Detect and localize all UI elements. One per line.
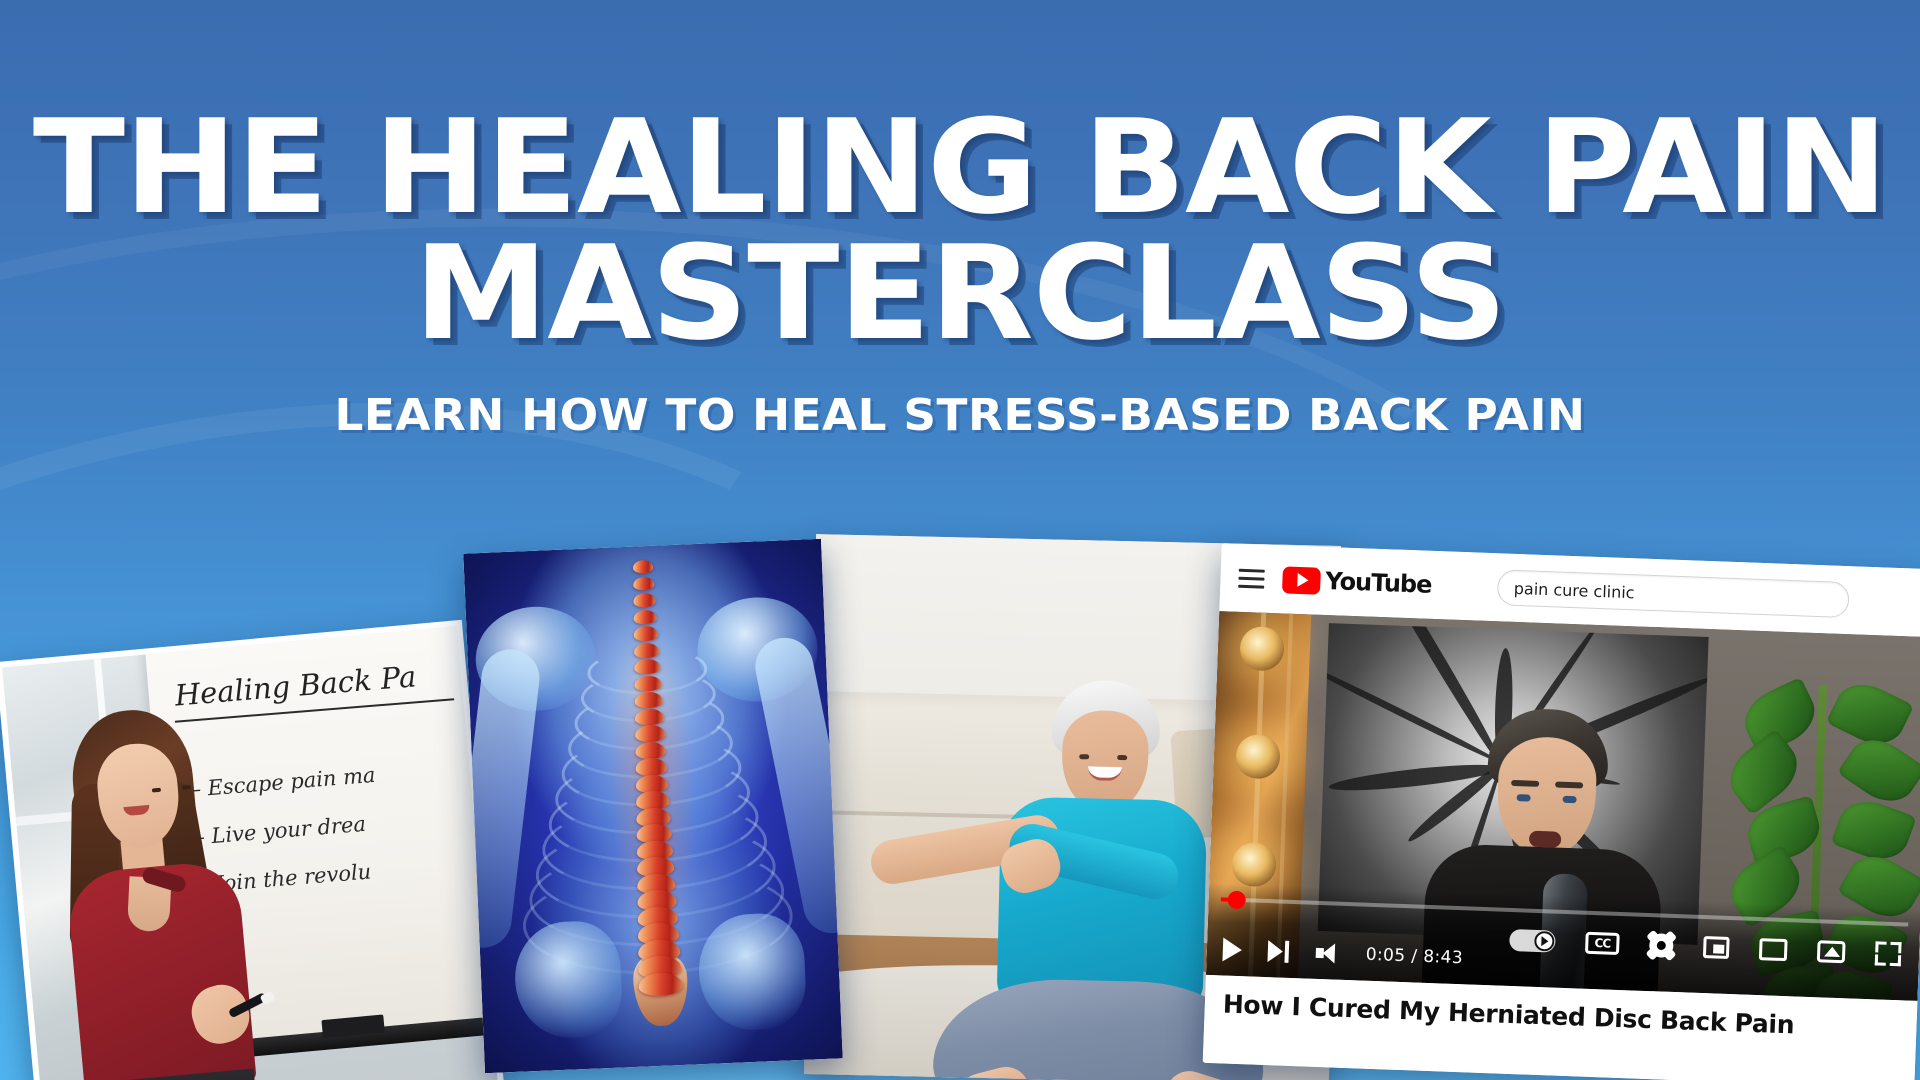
speaker-brow-left <box>1511 780 1539 787</box>
presenter-eye-left <box>152 788 161 793</box>
play-button[interactable] <box>1222 937 1242 962</box>
play-triangle <box>1297 573 1309 587</box>
corner <box>1875 941 1886 952</box>
search-input[interactable]: pain cure clinic <box>1496 569 1849 618</box>
hamburger-bar <box>1239 568 1265 572</box>
speaker-face <box>1496 735 1598 857</box>
photo-card-whiteboard: Healing Back Pa – Escape pain ma – Live … <box>0 620 504 1080</box>
youtube-logo[interactable]: YouTube <box>1282 565 1432 598</box>
autoplay-toggle[interactable] <box>1509 929 1556 953</box>
player-controls-right: CC <box>1509 928 1902 966</box>
next-video-button[interactable] <box>1267 940 1290 963</box>
theater-mode-icon[interactable] <box>1759 938 1788 961</box>
settings-gear-icon[interactable] <box>1649 933 1674 958</box>
time-display: 0:05 / 8:43 <box>1365 945 1463 969</box>
play-icon <box>1222 937 1242 962</box>
vertebra <box>634 659 660 675</box>
woman-eye-right <box>1117 755 1127 760</box>
hamburger-bar <box>1238 584 1264 588</box>
video-title: How I Cured My Herniated Disc Back Pain <box>1222 989 1899 1043</box>
vertebra <box>635 724 665 742</box>
light-bulb <box>1239 626 1285 672</box>
volume-icon <box>1315 943 1340 964</box>
vertebra <box>633 576 654 590</box>
corner <box>1890 955 1901 966</box>
whiteboard-photo: Healing Back Pa – Escape pain ma – Live … <box>2 626 498 1080</box>
photo-card-spine-anatomy <box>463 539 842 1074</box>
player-controls-left: 0:05 / 8:43 <box>1222 937 1463 970</box>
hamburger-bar <box>1238 576 1264 580</box>
plant-leaf <box>1837 728 1920 813</box>
corner <box>1875 954 1886 965</box>
gear-center <box>1657 941 1666 950</box>
page-title: THE HEALING BACK PAIN MASTERCLASS <box>0 0 1920 356</box>
vertebra <box>634 626 658 642</box>
captions-icon[interactable]: CC <box>1585 932 1620 955</box>
vertebra <box>635 741 666 760</box>
cast-icon[interactable] <box>1817 940 1846 963</box>
vertebra <box>634 692 662 709</box>
speaker-brow-right <box>1555 782 1583 789</box>
speaker-eye-right <box>1562 796 1576 804</box>
hamburger-menu-icon[interactable] <box>1238 568 1265 588</box>
vertebra <box>633 560 654 574</box>
title-line-2: MASTERCLASS <box>0 230 1920 356</box>
light-bulb <box>1231 842 1277 888</box>
woman-eye-left <box>1079 755 1089 760</box>
next-icon <box>1267 940 1290 963</box>
spine-illustration <box>463 539 842 1074</box>
youtube-page: YouTube pain cure clinic <box>1203 543 1920 1080</box>
youtube-play-icon <box>1282 566 1321 594</box>
miniplayer-icon[interactable] <box>1703 936 1730 959</box>
speaker-eye-left <box>1517 794 1531 802</box>
scrubber-handle[interactable] <box>1227 891 1246 910</box>
speaker-mouth <box>1529 831 1562 848</box>
page-subtitle: LEARN HOW TO HEAL STRESS-BASED BACK PAIN <box>0 390 1920 441</box>
light-bulb <box>1235 734 1281 780</box>
vertebra <box>634 642 659 658</box>
vertebra <box>633 593 655 608</box>
vertebra <box>633 609 656 624</box>
video-player[interactable]: 0:05 / 8:43 CC <box>1206 611 1920 1001</box>
youtube-wordmark: YouTube <box>1325 567 1432 599</box>
search-area: pain cure clinic <box>1431 567 1915 621</box>
vertebra <box>635 708 664 726</box>
vertebra <box>634 675 661 692</box>
fullscreen-icon[interactable] <box>1875 941 1902 966</box>
volume-button[interactable] <box>1315 943 1340 964</box>
corner <box>1890 942 1901 953</box>
youtube-browser-card: YouTube pain cure clinic <box>1203 543 1920 1080</box>
hero-text-block: THE HEALING BACK PAIN MASTERCLASS LEARN … <box>0 0 1920 441</box>
